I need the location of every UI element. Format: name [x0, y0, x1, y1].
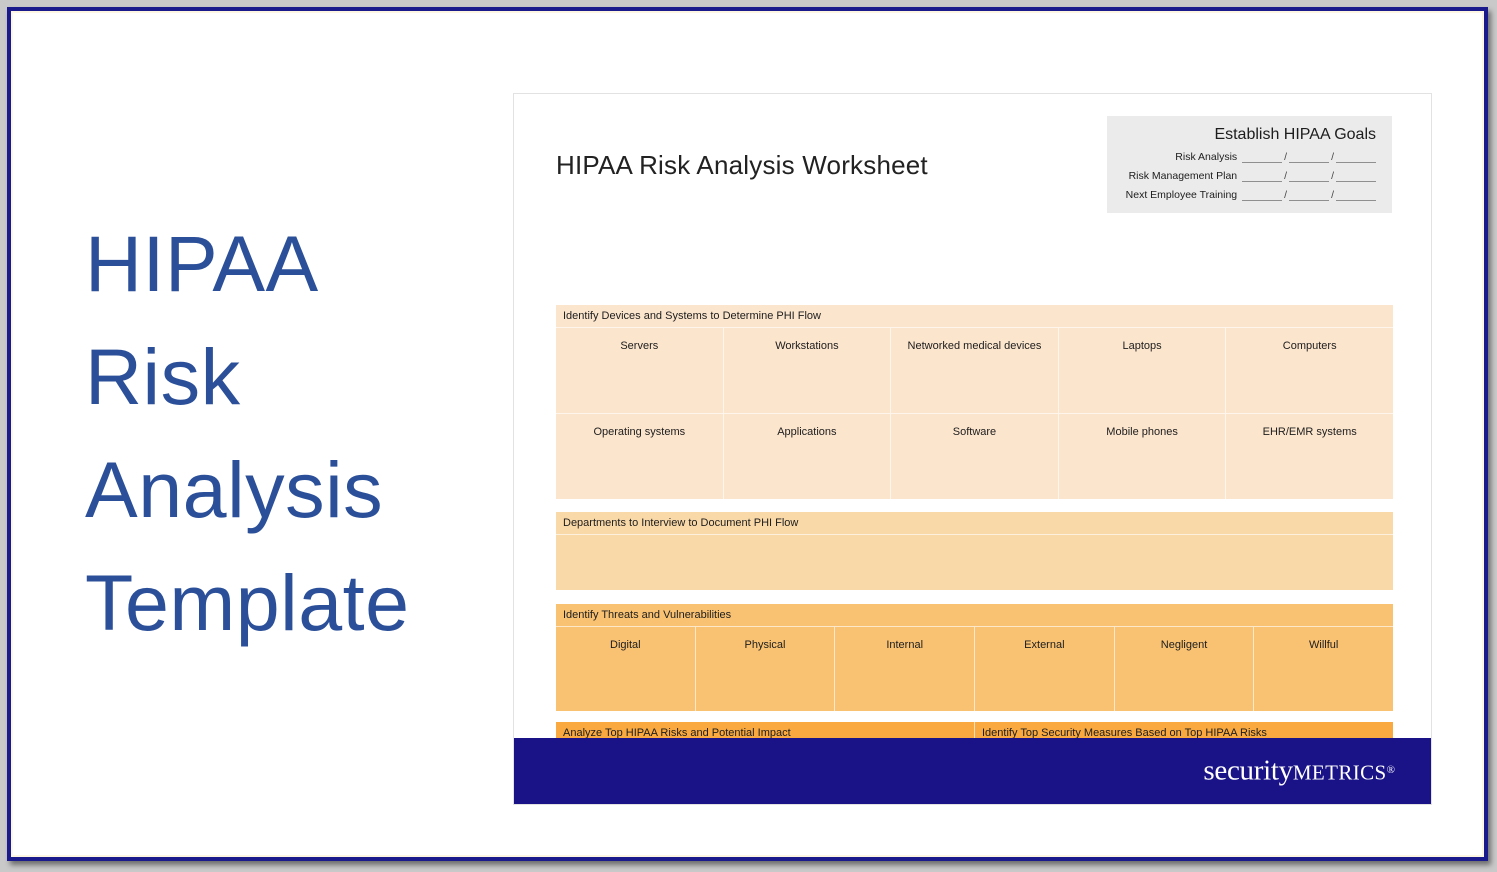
- goal-label: Risk Analysis: [1175, 152, 1242, 163]
- device-cell[interactable]: Applications: [724, 414, 892, 499]
- worksheet-title: HIPAA Risk Analysis Worksheet: [556, 150, 928, 181]
- headline-line-1: HIPAA: [85, 207, 485, 320]
- section-header: Identify Devices and Systems to Determin…: [556, 305, 1393, 327]
- goal-date-year-input[interactable]: [1336, 189, 1376, 201]
- goal-date-fields[interactable]: / /: [1242, 189, 1376, 201]
- section-header: Identify Threats and Vulnerabilities: [556, 604, 1393, 626]
- threat-cell[interactable]: Physical: [696, 627, 836, 712]
- section-identify-threats: Identify Threats and Vulnerabilities Dig…: [556, 604, 1393, 711]
- device-cell[interactable]: Servers: [556, 328, 724, 413]
- device-cell[interactable]: EHR/EMR systems: [1226, 414, 1393, 499]
- goal-separator: /: [1282, 190, 1289, 201]
- footer-band: securityMETRICS®: [514, 738, 1431, 804]
- devices-row-1: Servers Workstations Networked medical d…: [556, 328, 1393, 413]
- device-cell[interactable]: Networked medical devices: [891, 328, 1059, 413]
- goal-separator: /: [1329, 190, 1336, 201]
- goal-date-month-input[interactable]: [1242, 170, 1282, 182]
- section-header: Departments to Interview to Document PHI…: [556, 512, 1393, 534]
- slide-frame: HIPAA Risk Analysis Template HIPAA Risk …: [0, 0, 1497, 872]
- goal-date-day-input[interactable]: [1289, 170, 1329, 182]
- section-departments-to-interview: Departments to Interview to Document PHI…: [556, 512, 1393, 590]
- goal-date-year-input[interactable]: [1336, 151, 1376, 163]
- page-title: HIPAA Risk Analysis Template: [85, 207, 485, 659]
- registered-trademark-icon: ®: [1387, 764, 1395, 776]
- worksheet-card: HIPAA Risk Analysis Worksheet Establish …: [513, 93, 1432, 805]
- threat-cell[interactable]: Negligent: [1115, 627, 1255, 712]
- threat-cell[interactable]: External: [975, 627, 1115, 712]
- goal-date-day-input[interactable]: [1289, 151, 1329, 163]
- device-cell[interactable]: Computers: [1226, 328, 1393, 413]
- device-cell[interactable]: Laptops: [1059, 328, 1227, 413]
- goal-row-next-employee-training: Next Employee Training / /: [1117, 189, 1376, 201]
- slide-border: HIPAA Risk Analysis Template HIPAA Risk …: [7, 7, 1488, 861]
- goal-separator: /: [1329, 171, 1336, 182]
- goal-date-fields[interactable]: / /: [1242, 151, 1376, 163]
- securitymetrics-logo: securityMETRICS®: [1203, 755, 1395, 788]
- goal-date-fields[interactable]: / /: [1242, 170, 1376, 182]
- goal-date-month-input[interactable]: [1242, 189, 1282, 201]
- device-cell[interactable]: Mobile phones: [1059, 414, 1227, 499]
- slide-canvas: HIPAA Risk Analysis Template HIPAA Risk …: [11, 11, 1484, 857]
- goal-separator: /: [1282, 171, 1289, 182]
- goals-heading: Establish HIPAA Goals: [1117, 126, 1376, 144]
- goal-label: Next Employee Training: [1126, 190, 1242, 201]
- goal-row-risk-management-plan: Risk Management Plan / /: [1117, 170, 1376, 182]
- threat-cell[interactable]: Willful: [1254, 627, 1393, 712]
- goal-label: Risk Management Plan: [1129, 171, 1243, 182]
- threat-cell[interactable]: Digital: [556, 627, 696, 712]
- logo-secondary-text: METRICS: [1293, 761, 1387, 785]
- headline-line-4: Template: [85, 546, 485, 659]
- threats-row: Digital Physical Internal External Negli…: [556, 627, 1393, 712]
- device-cell[interactable]: Workstations: [724, 328, 892, 413]
- headline-line-3: Analysis: [85, 433, 485, 546]
- goal-row-risk-analysis: Risk Analysis / /: [1117, 151, 1376, 163]
- departments-fill-area[interactable]: [556, 535, 1393, 591]
- devices-row-2: Operating systems Applications Software …: [556, 414, 1393, 499]
- goal-date-month-input[interactable]: [1242, 151, 1282, 163]
- section-identify-devices: Identify Devices and Systems to Determin…: [556, 305, 1393, 499]
- goal-separator: /: [1329, 152, 1336, 163]
- goal-date-day-input[interactable]: [1289, 189, 1329, 201]
- logo-primary-text: security: [1203, 755, 1292, 787]
- headline-line-2: Risk: [85, 320, 485, 433]
- goal-separator: /: [1282, 152, 1289, 163]
- establish-hipaa-goals-box: Establish HIPAA Goals Risk Analysis / / …: [1107, 116, 1392, 213]
- goal-date-year-input[interactable]: [1336, 170, 1376, 182]
- threat-cell[interactable]: Internal: [835, 627, 975, 712]
- device-cell[interactable]: Software: [891, 414, 1059, 499]
- device-cell[interactable]: Operating systems: [556, 414, 724, 499]
